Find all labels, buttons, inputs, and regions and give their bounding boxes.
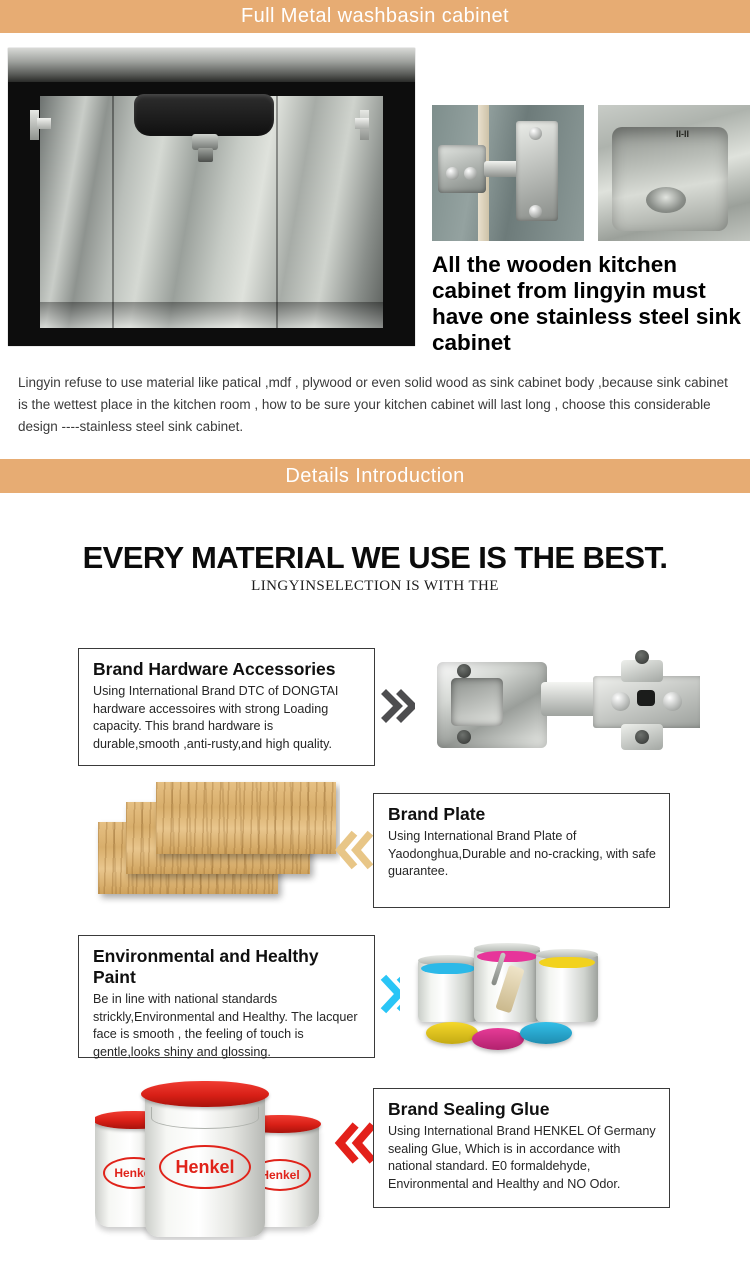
paint-cans-photo: [400, 930, 700, 1065]
feature-body: Using International Brand DTC of DONGTAI…: [93, 683, 362, 753]
wooden-plates-photo: [78, 780, 340, 908]
page-title-text: Full Metal washbasin cabinet: [241, 5, 509, 28]
feature-body: Using International Brand Plate of Yaodo…: [388, 828, 657, 881]
feature-body: Be in line with national standards stric…: [93, 991, 362, 1061]
feature-title: Brand Sealing Glue: [388, 1099, 657, 1120]
page-title-banner: Full Metal washbasin cabinet: [0, 0, 750, 33]
feature-card-paint: Environmental and Healthy Paint Be in li…: [78, 935, 375, 1058]
sink-basin-thumbnail: II-II: [598, 105, 750, 241]
feature-card-plate: Brand Plate Using International Brand Pl…: [373, 793, 670, 908]
double-chevron-left-icon: [332, 828, 376, 872]
section-headline: EVERY MATERIAL WE USE IS THE BEST.: [0, 540, 750, 576]
brand-logo-label-main: Henkel: [159, 1145, 251, 1189]
feature-body: Using International Brand HENKEL Of Germ…: [388, 1123, 657, 1193]
henkel-buckets-photo: Henkel Henkel Henkel: [95, 1075, 340, 1240]
double-chevron-right-icon: [380, 686, 420, 726]
details-introduction-banner: Details Introduction: [0, 459, 750, 493]
feature-title: Environmental and Healthy Paint: [93, 946, 362, 988]
intro-paragraph: Lingyin refuse to use material like pati…: [18, 372, 730, 438]
feature-card-hardware: Brand Hardware Accessories Using Interna…: [78, 648, 375, 766]
hero-heading: All the wooden kitchen cabinet from ling…: [432, 252, 748, 356]
feature-card-sealing-glue: Brand Sealing Glue Using International B…: [373, 1088, 670, 1208]
double-chevron-left-icon: [332, 1118, 378, 1168]
hero-cabinet-photo: [8, 48, 415, 346]
feature-title: Brand Plate: [388, 804, 657, 825]
section-subheadline: LINGYINSELECTION IS WITH THE: [0, 578, 750, 595]
hinge-product-photo: [415, 634, 700, 776]
details-introduction-text: Details Introduction: [285, 465, 464, 488]
feature-title: Brand Hardware Accessories: [93, 659, 362, 680]
hinge-closeup-thumbnail: [432, 105, 584, 241]
sink-thumbnail-mark: II-II: [676, 129, 689, 139]
